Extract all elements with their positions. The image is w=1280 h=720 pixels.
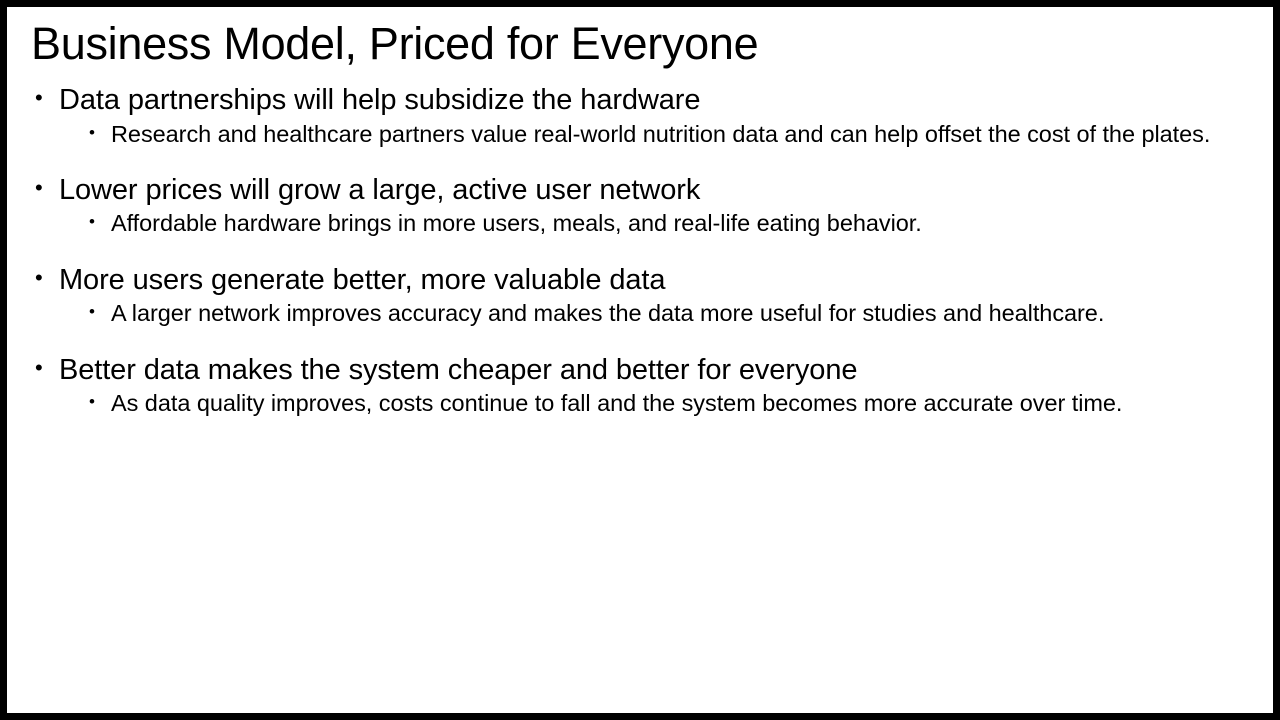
bullet-level2: As data quality improves, costs continue… bbox=[27, 389, 1247, 419]
bullet-level2: Research and healthcare partners value r… bbox=[27, 120, 1247, 150]
bullet-level2: Affordable hardware brings in more users… bbox=[27, 209, 1247, 239]
slide-content-area: Business Model, Priced for Everyone Data… bbox=[7, 7, 1273, 713]
bullet-level2: A larger network improves accuracy and m… bbox=[27, 299, 1247, 329]
sub-bullet-list: Affordable hardware brings in more users… bbox=[27, 209, 1247, 239]
bullet-level2-text: As data quality improves, costs continue… bbox=[111, 389, 1221, 419]
bullet-level1-text: More users generate better, more valuabl… bbox=[27, 263, 1247, 297]
bullet-level2-text: A larger network improves accuracy and m… bbox=[111, 299, 1221, 329]
sub-bullet-list: As data quality improves, costs continue… bbox=[27, 389, 1247, 419]
bullet-level2-text: Affordable hardware brings in more users… bbox=[111, 209, 1221, 239]
slide-bullet-list: Data partnerships will help subsidize th… bbox=[27, 83, 1247, 418]
bullet-group: Data partnerships will help subsidize th… bbox=[27, 83, 1247, 149]
bullet-level2-text: Research and healthcare partners value r… bbox=[111, 120, 1221, 150]
bullet-group: Lower prices will grow a large, active u… bbox=[27, 173, 1247, 239]
bullet-level1-text: Better data makes the system cheaper and… bbox=[27, 353, 1247, 387]
presentation-slide: Business Model, Priced for Everyone Data… bbox=[0, 0, 1280, 720]
sub-bullet-list: A larger network improves accuracy and m… bbox=[27, 299, 1247, 329]
page-title: Business Model, Priced for Everyone bbox=[31, 19, 1247, 69]
bullet-group: More users generate better, more valuabl… bbox=[27, 263, 1247, 329]
sub-bullet-list: Research and healthcare partners value r… bbox=[27, 120, 1247, 150]
bullet-group: Better data makes the system cheaper and… bbox=[27, 353, 1247, 419]
bullet-level1-text: Data partnerships will help subsidize th… bbox=[27, 83, 1247, 117]
bullet-level1-text: Lower prices will grow a large, active u… bbox=[27, 173, 1247, 207]
